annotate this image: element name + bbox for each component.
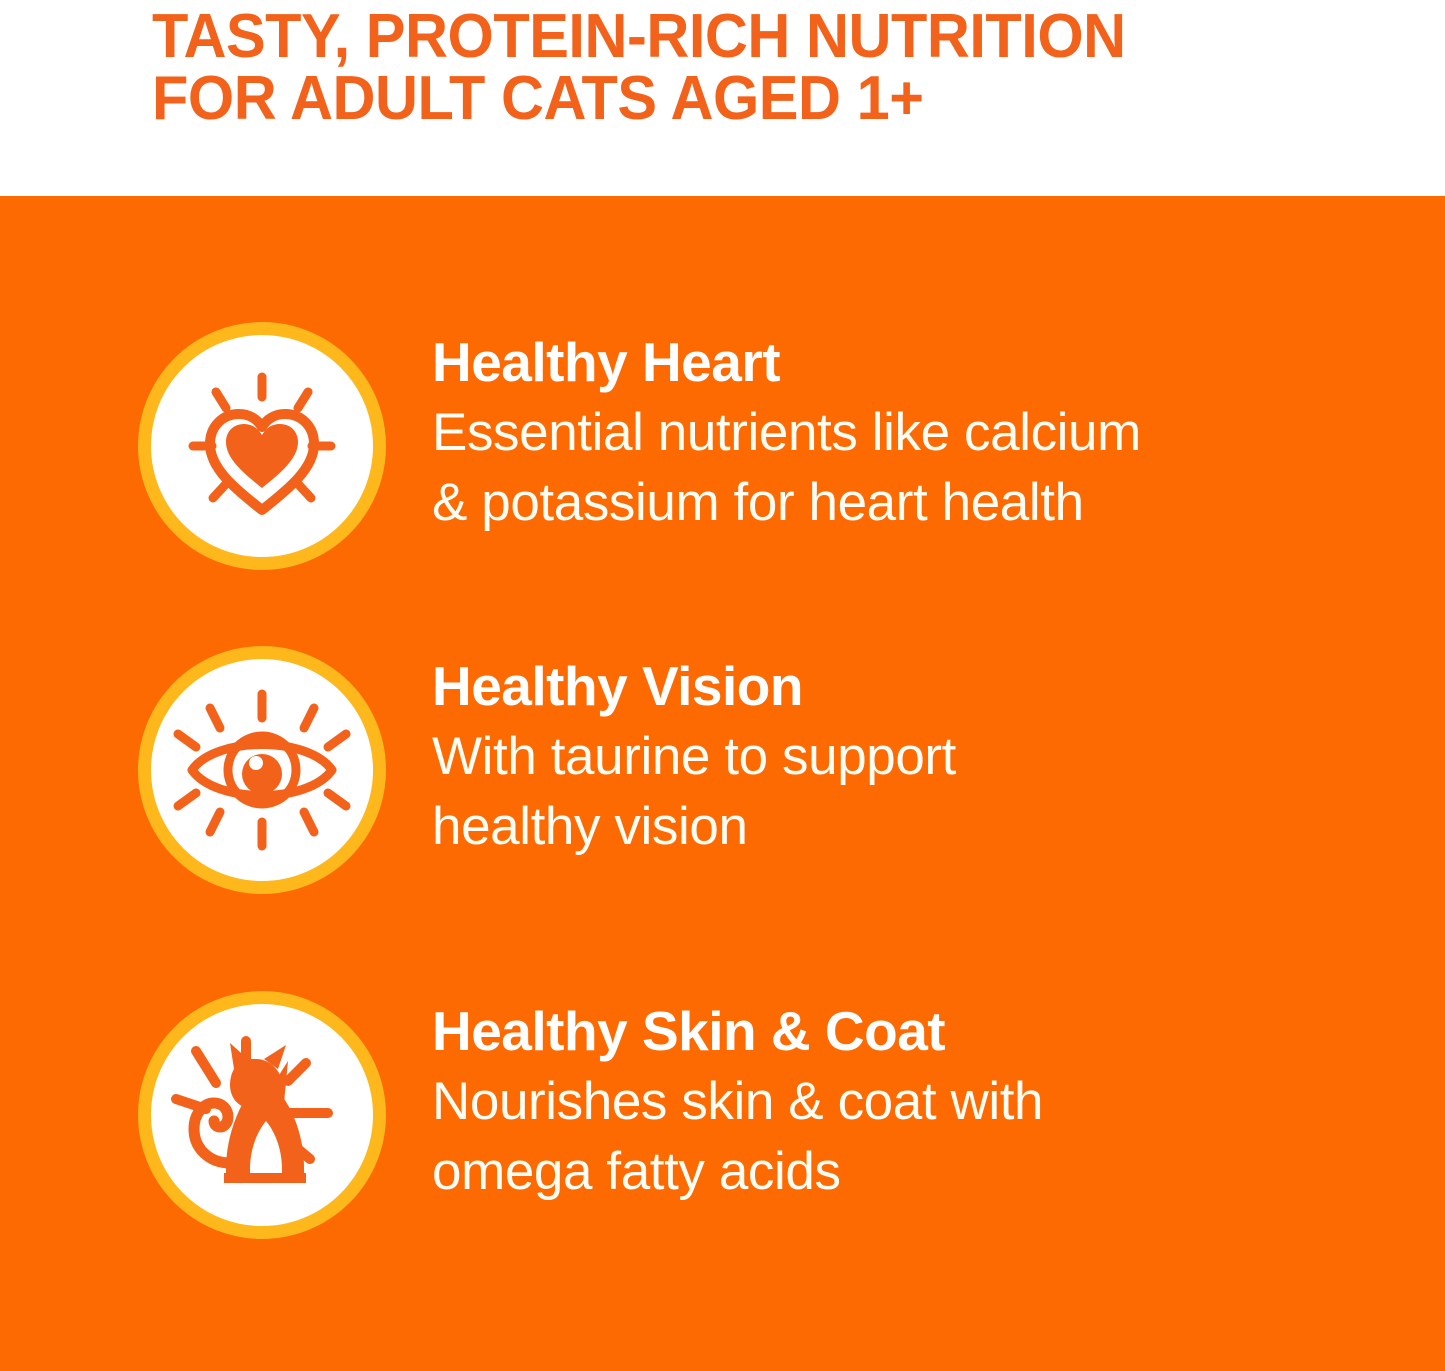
page-title: TASTY, PROTEIN-RICH NUTRITION FOR ADULT … (152, 6, 1393, 130)
benefit-icon-wrapper (138, 322, 386, 570)
benefit-text-block: Healthy Vision With taurine to support h… (432, 646, 956, 862)
benefit-title: Healthy Skin & Coat (432, 1003, 1043, 1061)
benefit-title: Healthy Vision (432, 658, 956, 716)
benefit-description: Essential nutrients like calcium & potas… (432, 398, 1141, 538)
headline-band: TASTY, PROTEIN-RICH NUTRITION FOR ADULT … (0, 0, 1445, 196)
benefit-icon-wrapper (138, 646, 386, 894)
benefit-item-vision: Healthy Vision With taurine to support h… (0, 646, 1445, 894)
benefit-item-heart: Healthy Heart Essential nutrients like c… (0, 322, 1445, 570)
benefit-item-skin-coat: Healthy Skin & Coat Nourishes skin & coa… (0, 991, 1445, 1239)
benefit-description: With taurine to support healthy vision (432, 722, 956, 862)
heart-rays-icon (138, 322, 386, 570)
cat-rays-icon (138, 991, 386, 1239)
benefit-icon-wrapper (138, 991, 386, 1239)
product-benefits-graphic: TASTY, PROTEIN-RICH NUTRITION FOR ADULT … (0, 0, 1445, 1371)
benefit-text-block: Healthy Skin & Coat Nourishes skin & coa… (432, 991, 1043, 1207)
benefits-panel: Healthy Heart Essential nutrients like c… (0, 196, 1445, 1371)
eye-rays-icon (138, 646, 386, 894)
benefit-description: Nourishes skin & coat with omega fatty a… (432, 1067, 1043, 1207)
benefit-title: Healthy Heart (432, 334, 1141, 392)
benefit-text-block: Healthy Heart Essential nutrients like c… (432, 322, 1141, 538)
